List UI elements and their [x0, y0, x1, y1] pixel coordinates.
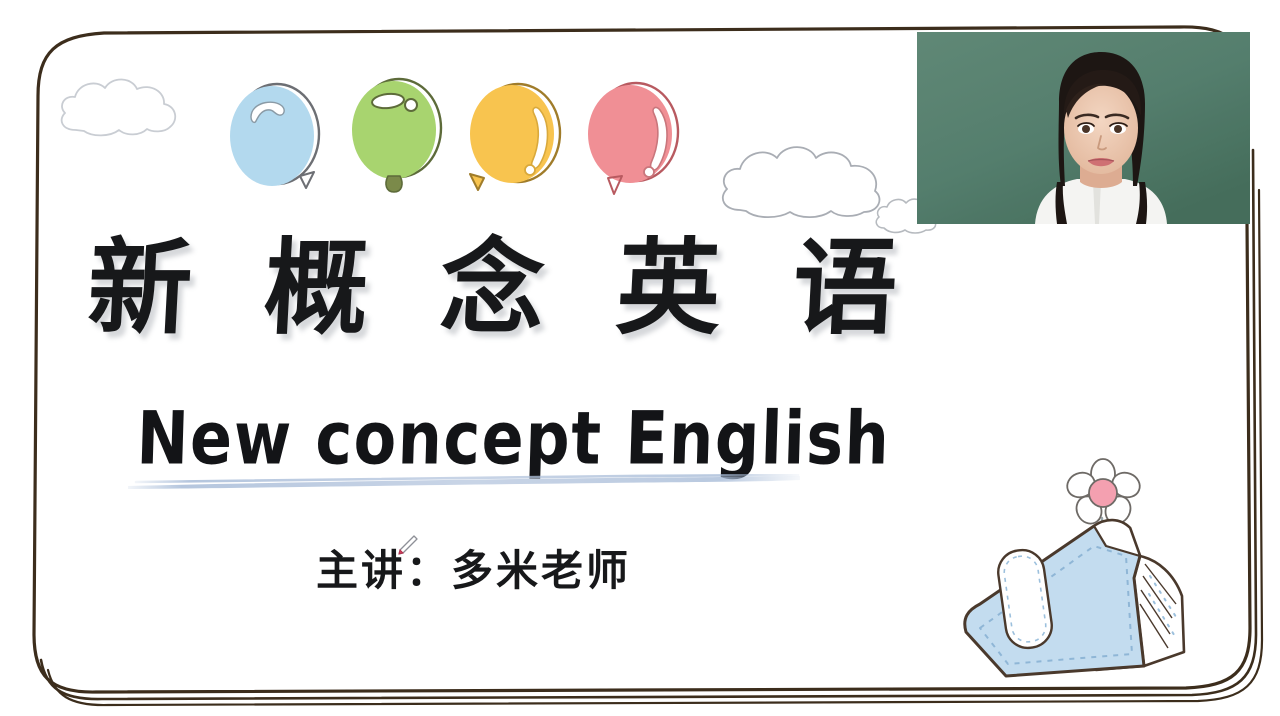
daisy-flower	[1064, 459, 1144, 528]
balloon-icon	[344, 72, 448, 202]
cloud-icon	[712, 136, 892, 226]
slide-title-chinese: 新 概 念 英 语	[85, 224, 852, 352]
presenter-webcam[interactable]	[917, 32, 1250, 224]
slide-subtitle-group: New concept English	[120, 396, 820, 500]
balloon-icon	[222, 76, 326, 202]
slide-title-english: New concept English	[135, 396, 891, 481]
open-book-illustration	[944, 452, 1196, 678]
balloon-icon	[462, 76, 566, 202]
brush-underline	[126, 474, 802, 490]
slide-canvas: 新 概 念 英 语 New concept English 主讲：多米老师	[0, 0, 1280, 716]
balloon-icon	[580, 76, 684, 202]
webcam-video-feed	[917, 32, 1250, 224]
presenter-name: 主讲：多米老师	[316, 544, 631, 598]
cloud-icon	[52, 68, 182, 146]
